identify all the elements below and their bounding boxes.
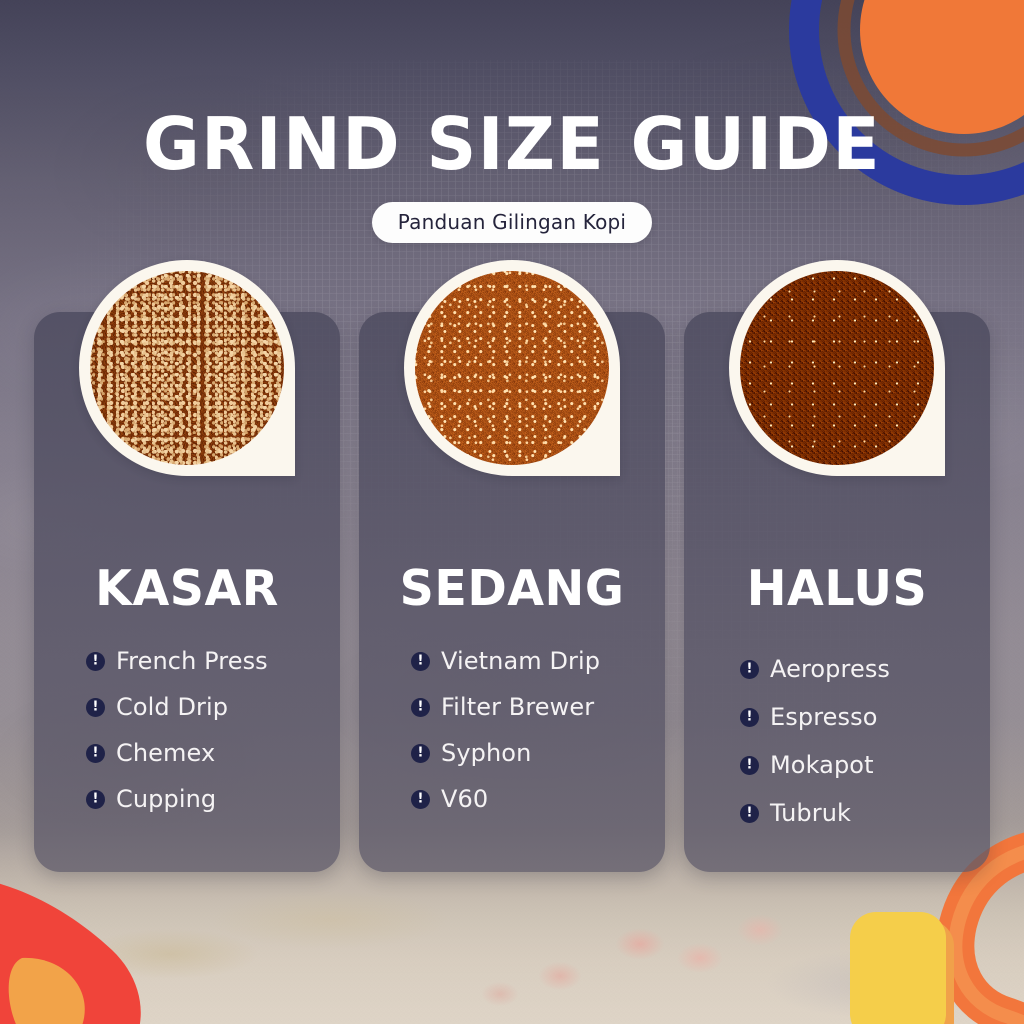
list-item[interactable]: ! Aeropress [740,656,990,682]
exclamation-icon: ! [411,652,430,671]
list-item[interactable]: ! Vietnam Drip [411,648,665,674]
fine-grind-photo [740,271,934,465]
coarse-grind-badge [79,260,295,476]
list-item[interactable]: ! Espresso [740,704,990,730]
list-item-label: Filter Brewer [441,693,594,721]
page-title: GRIND SIZE GUIDE [20,108,1003,180]
list-item-label: V60 [441,785,488,813]
list-item-label: Aeropress [770,655,890,683]
list-item-label: Cupping [116,785,216,813]
card-title-kasar: KASAR [39,560,336,617]
list-item-label: Vietnam Drip [441,647,600,675]
exclamation-icon: ! [740,660,759,679]
coarse-grind-photo [90,271,284,465]
exclamation-icon: ! [740,804,759,823]
brew-method-list-sedang: ! Vietnam Drip ! Filter Brewer ! Syphon … [359,648,665,832]
list-item-label: Cold Drip [116,693,228,721]
grind-card-sedang[interactable]: SEDANG ! Vietnam Drip ! Filter Brewer ! … [359,312,665,872]
list-item-label: Chemex [116,739,215,767]
brew-method-list-halus: ! Aeropress ! Espresso ! Mokapot ! Tubru… [684,656,990,848]
card-title-sedang: SEDANG [364,560,661,617]
list-item-label: Syphon [441,739,531,767]
card-title-halus: HALUS [689,560,986,617]
exclamation-icon: ! [411,698,430,717]
fine-grind-badge [729,260,945,476]
grind-card-halus[interactable]: HALUS ! Aeropress ! Espresso ! Mokapot !… [684,312,990,872]
list-item[interactable]: ! V60 [411,786,665,812]
medium-grind-badge [404,260,620,476]
medium-grind-texture [415,271,609,465]
fine-grind-texture [740,271,934,465]
exclamation-icon: ! [411,790,430,809]
exclamation-icon: ! [86,698,105,717]
grind-card-kasar[interactable]: KASAR ! French Press ! Cold Drip ! Cheme… [34,312,340,872]
list-item[interactable]: ! Mokapot [740,752,990,778]
list-item-label: Espresso [770,703,878,731]
poster-header: GRIND SIZE GUIDE Panduan Gilingan Kopi [0,0,1024,243]
list-item[interactable]: ! Cupping [86,786,340,812]
exclamation-icon: ! [86,790,105,809]
list-item[interactable]: ! Filter Brewer [411,694,665,720]
list-item[interactable]: ! Tubruk [740,800,990,826]
subtitle-pill: Panduan Gilingan Kopi [372,202,652,243]
medium-grind-photo [415,271,609,465]
list-item[interactable]: ! Syphon [411,740,665,766]
exclamation-icon: ! [86,652,105,671]
brew-method-list-kasar: ! French Press ! Cold Drip ! Chemex ! Cu… [34,648,340,832]
coarse-grind-texture [90,271,284,465]
grind-cards-row: KASAR ! French Press ! Cold Drip ! Cheme… [34,312,990,872]
exclamation-icon: ! [86,744,105,763]
list-item-label: Mokapot [770,751,874,779]
grind-size-guide-poster: GRIND SIZE GUIDE Panduan Gilingan Kopi K… [0,0,1024,1024]
list-item[interactable]: ! Cold Drip [86,694,340,720]
exclamation-icon: ! [740,756,759,775]
list-item-label: French Press [116,647,268,675]
exclamation-icon: ! [740,708,759,727]
list-item-label: Tubruk [770,799,851,827]
list-item[interactable]: ! French Press [86,648,340,674]
list-item[interactable]: ! Chemex [86,740,340,766]
exclamation-icon: ! [411,744,430,763]
